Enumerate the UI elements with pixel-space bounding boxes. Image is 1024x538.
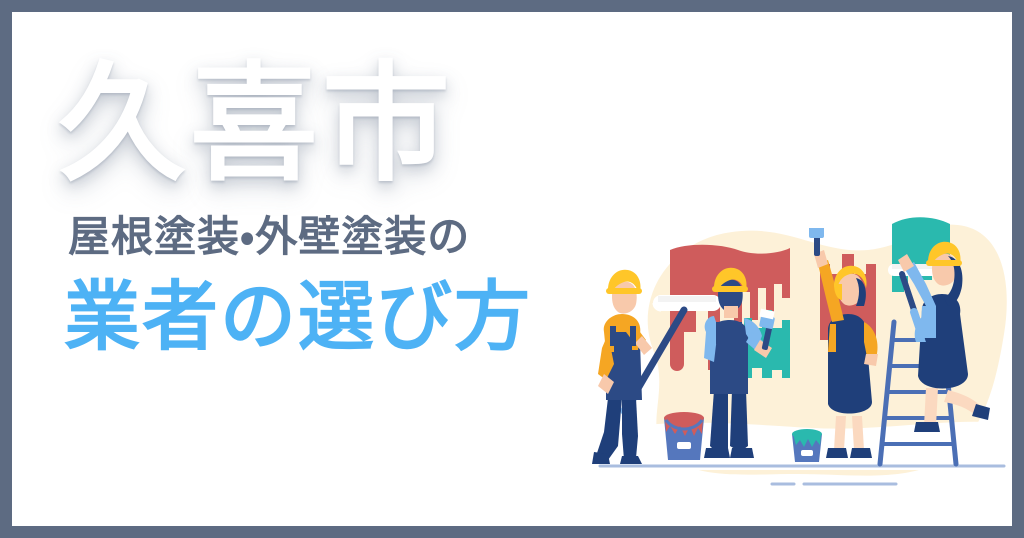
shoe-left-2 (704, 448, 730, 458)
painters-illustration-svg (592, 202, 1012, 512)
leg-right-2 (730, 390, 748, 452)
paint-bucket-red (664, 412, 704, 460)
leg-front-1 (622, 396, 638, 460)
hard-hat-brim-2 (712, 286, 748, 292)
strap-left-1 (610, 326, 616, 346)
banner-canvas: 久喜市 屋根塗装・外壁塗装の 業者の選び方 (12, 12, 1012, 526)
leg-right-3 (852, 416, 864, 450)
bucket-label-teal (801, 450, 813, 456)
leg-front-4 (924, 388, 938, 426)
shoe-right-3 (850, 448, 872, 458)
roller-head-red (654, 296, 720, 310)
shoe-left-3 (826, 448, 848, 458)
city-title: 久喜市 (58, 60, 618, 191)
shoe-front-4 (914, 422, 940, 432)
paint-drip-bead (670, 357, 684, 371)
bucket-label-red (677, 442, 691, 449)
neck-2 (724, 306, 738, 318)
text-block: 久喜市 屋根塗装・外壁塗装の 業者の選び方 (58, 60, 618, 359)
strap-left-2 (716, 322, 722, 344)
banner-frame: 久喜市 屋根塗装・外壁塗装の 業者の選び方 (0, 0, 1024, 538)
subtitle: 屋根塗装・外壁塗装の (68, 213, 618, 262)
headline: 業者の選び方 (64, 277, 618, 359)
painters-illustration (592, 202, 1012, 512)
strap-right-2 (736, 322, 742, 344)
hand-hip-3 (864, 354, 878, 366)
shoe-right-2 (730, 448, 754, 458)
hard-hat-brim-1 (606, 288, 642, 294)
hard-hat-brim-4 (926, 260, 962, 266)
paint-bucket-teal (792, 429, 822, 462)
strap-right-1 (630, 326, 636, 346)
leg-left-3 (834, 416, 846, 450)
